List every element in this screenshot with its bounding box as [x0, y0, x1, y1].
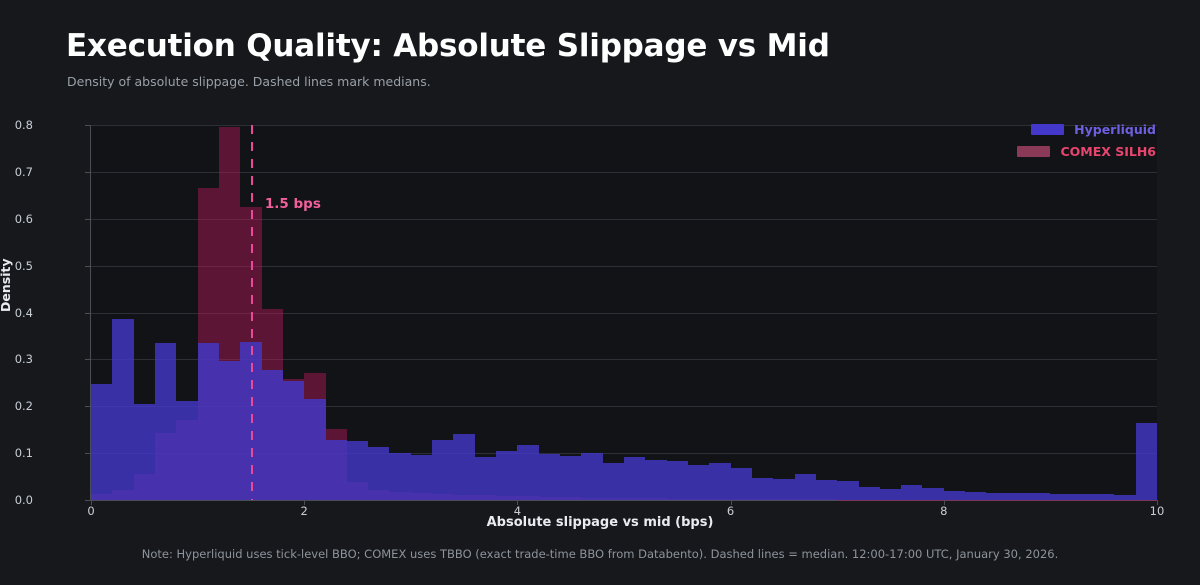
histogram-bar	[112, 319, 133, 500]
histogram-bar	[155, 343, 176, 500]
y-tick-label: 0.5	[15, 259, 33, 273]
x-tick-mark	[944, 500, 945, 505]
histogram-bar	[709, 463, 730, 500]
median-dashed-line	[251, 125, 253, 500]
histogram-bar	[1050, 494, 1071, 500]
histogram-bar	[1114, 495, 1135, 500]
histogram-bar	[539, 454, 560, 500]
x-tick-mark	[731, 500, 732, 505]
histogram-bar	[1072, 494, 1093, 500]
histogram-bar	[326, 440, 347, 500]
histogram-bar	[219, 361, 240, 500]
histogram-bar	[624, 457, 645, 500]
histogram-bar	[688, 465, 709, 500]
legend-swatch-hyperliquid	[1031, 124, 1064, 135]
y-tick-label: 0.0	[15, 493, 33, 507]
legend: Hyperliquid COMEX SILH6	[1017, 122, 1156, 159]
histogram-bar	[880, 489, 901, 500]
x-tick-label: 10	[1150, 504, 1165, 518]
x-tick-mark	[91, 500, 92, 505]
histogram-bar	[859, 487, 880, 500]
histogram-bar	[795, 474, 816, 500]
histogram-bar	[816, 480, 837, 500]
median-annotation-label: 1.5 bps	[265, 196, 321, 212]
histogram-bar	[1008, 493, 1029, 500]
y-tick-mark	[85, 313, 90, 314]
y-tick-mark	[85, 266, 90, 267]
y-tick-label: 0.6	[15, 212, 33, 226]
histogram-bar	[901, 485, 922, 500]
y-tick-mark	[85, 359, 90, 360]
histogram-bar	[432, 440, 453, 500]
histogram-bar	[517, 445, 538, 500]
histogram-bar	[837, 481, 858, 500]
x-tick-mark	[1157, 500, 1158, 505]
plot-area: 1.5 bps	[91, 125, 1157, 500]
histogram-bar	[347, 441, 368, 500]
histogram-bar	[944, 491, 965, 500]
histogram-bar	[475, 457, 496, 500]
x-tick-mark	[304, 500, 305, 505]
x-tick-label: 0	[87, 504, 94, 518]
y-tick-label: 0.3	[15, 352, 33, 366]
histogram-bar	[731, 468, 752, 500]
histogram-bar	[752, 478, 773, 501]
histogram-bar	[198, 343, 219, 500]
legend-swatch-comex	[1017, 146, 1050, 157]
y-tick-label: 0.8	[15, 118, 33, 132]
histogram-bar	[262, 370, 283, 500]
legend-label-comex: COMEX SILH6	[1060, 144, 1156, 159]
histogram-bar	[1093, 494, 1114, 500]
y-tick-label: 0.1	[15, 446, 33, 460]
histogram-bar	[922, 488, 943, 500]
histogram-bar	[134, 404, 155, 500]
histogram-bar	[965, 492, 986, 500]
histogram-bar	[496, 451, 517, 500]
x-tick-mark	[517, 500, 518, 505]
y-tick-mark	[85, 125, 90, 126]
histogram-bar	[389, 453, 410, 500]
histogram-bar	[283, 381, 304, 500]
histogram-bar	[368, 447, 389, 500]
y-tick-mark	[85, 453, 90, 454]
x-tick-label: 6	[727, 504, 734, 518]
histogram-bar	[773, 479, 794, 500]
x-tick-label: 8	[940, 504, 947, 518]
y-tick-mark	[85, 500, 90, 501]
histogram-bar	[304, 399, 325, 500]
y-tick-label: 0.7	[15, 165, 33, 179]
page-title: Execution Quality: Absolute Slippage vs …	[66, 28, 830, 64]
y-tick-label: 0.2	[15, 399, 33, 413]
histogram-bar	[645, 460, 666, 500]
histogram-bar	[453, 434, 474, 500]
y-tick-label: 0.4	[15, 306, 33, 320]
histogram-bar	[1029, 493, 1050, 500]
histogram-bar	[581, 453, 602, 500]
footer-note: Note: Hyperliquid uses tick-level BBO; C…	[0, 547, 1200, 561]
histogram-bar	[667, 461, 688, 500]
y-tick-mark	[85, 219, 90, 220]
legend-item-comex[interactable]: COMEX SILH6	[1017, 144, 1156, 159]
histogram-bar	[560, 456, 581, 500]
x-tick-label: 2	[301, 504, 308, 518]
chart-page: Execution Quality: Absolute Slippage vs …	[0, 0, 1200, 585]
histogram-bar	[411, 455, 432, 500]
y-axis-label: Density	[0, 258, 13, 312]
page-subtitle: Density of absolute slippage. Dashed lin…	[67, 74, 431, 89]
x-tick-label: 4	[514, 504, 521, 518]
histogram-bar	[1136, 423, 1157, 500]
y-tick-mark	[85, 172, 90, 173]
legend-item-hyperliquid[interactable]: Hyperliquid	[1031, 122, 1156, 137]
histogram-bar	[603, 463, 624, 500]
y-tick-mark	[85, 406, 90, 407]
legend-label-hyperliquid: Hyperliquid	[1074, 122, 1156, 137]
histogram-bar	[986, 493, 1007, 500]
histogram-bar	[91, 384, 112, 500]
x-axis-label: Absolute slippage vs mid (bps)	[0, 515, 1200, 530]
gridline	[91, 500, 1157, 501]
histogram-bar	[176, 401, 197, 500]
